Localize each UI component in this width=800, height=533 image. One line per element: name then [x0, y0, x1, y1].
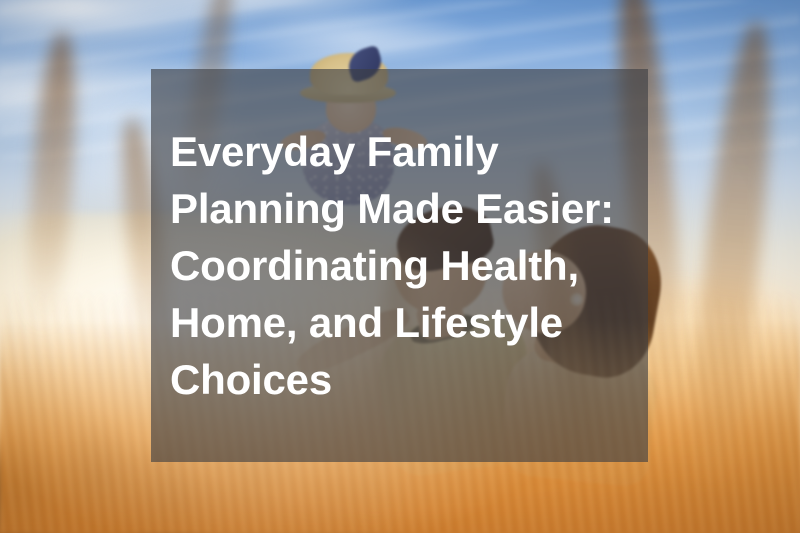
page-title: Everyday Family Planning Made Easier: Co… — [151, 123, 648, 408]
title-overlay-panel: Everyday Family Planning Made Easier: Co… — [151, 69, 648, 462]
hero-banner: Everyday Family Planning Made Easier: Co… — [0, 0, 800, 533]
